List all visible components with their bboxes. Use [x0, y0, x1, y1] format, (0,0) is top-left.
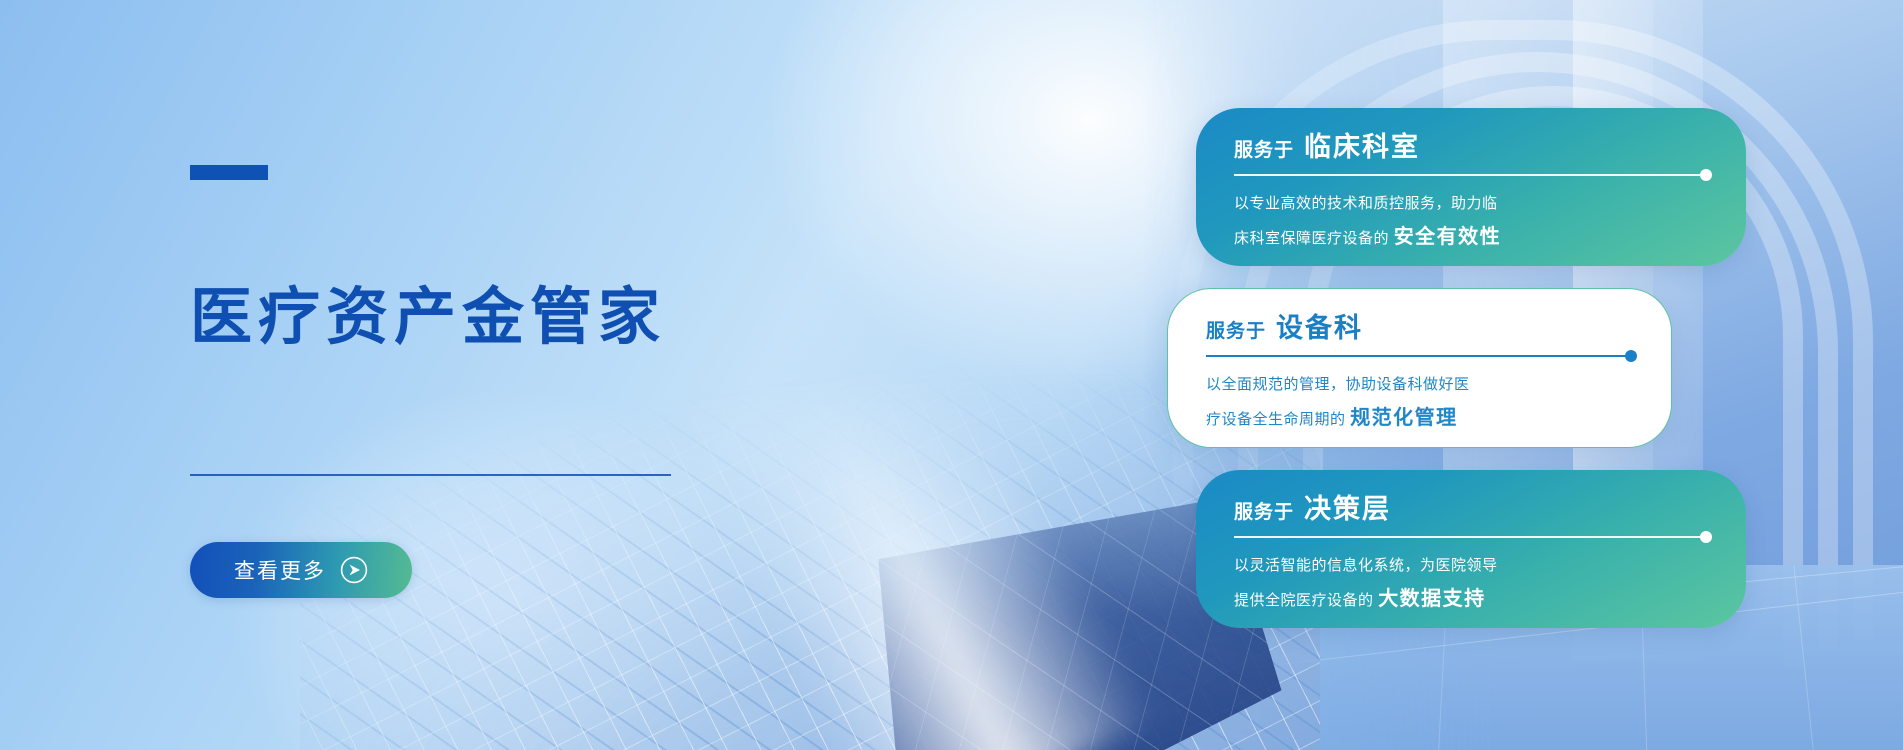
card-title-prefix: 服务于	[1234, 141, 1294, 160]
card-divider-dot-icon	[1700, 169, 1712, 181]
card-desc-line-1: 以灵活智能的信息化系统，为医院领导	[1234, 551, 1712, 580]
card-divider-bar	[1234, 536, 1700, 538]
card-title-target: 决策层	[1304, 496, 1391, 523]
card-divider	[1206, 355, 1637, 357]
card-desc-line-2: 提供全院医疗设备的 大数据支持	[1234, 580, 1712, 619]
card-title-prefix: 服务于	[1234, 503, 1294, 522]
feature-card-decision-makers[interactable]: 服务于 决策层 以灵活智能的信息化系统，为医院领导 提供全院医疗设备的 大数据支…	[1196, 470, 1746, 628]
card-divider-dot-icon	[1700, 531, 1712, 543]
card-title: 服务于 决策层	[1234, 496, 1712, 523]
card-title-target: 临床科室	[1304, 134, 1420, 161]
card-desc-line-2: 疗设备全生命周期的 规范化管理	[1206, 399, 1637, 438]
card-desc-line-2-normal: 疗设备全生命周期的	[1206, 411, 1346, 428]
card-divider-bar	[1234, 174, 1700, 176]
card-desc-highlight: 安全有效性	[1394, 226, 1502, 248]
card-divider	[1234, 174, 1712, 176]
feature-card-clinical[interactable]: 服务于 临床科室 以专业高效的技术和质控服务，助力临 床科室保障医疗设备的 安全…	[1196, 108, 1746, 266]
card-description: 以全面规范的管理，协助设备科做好医 疗设备全生命周期的 规范化管理	[1206, 370, 1637, 438]
card-description: 以灵活智能的信息化系统，为医院领导 提供全院医疗设备的 大数据支持	[1234, 551, 1712, 619]
card-description: 以专业高效的技术和质控服务，助力临 床科室保障医疗设备的 安全有效性	[1234, 189, 1712, 257]
card-divider	[1234, 536, 1712, 538]
card-desc-highlight: 大数据支持	[1378, 588, 1486, 610]
card-title: 服务于 临床科室	[1234, 134, 1712, 161]
card-desc-line-2: 床科室保障医疗设备的 安全有效性	[1234, 218, 1712, 257]
feature-card-list: 服务于 临床科室 以专业高效的技术和质控服务，助力临 床科室保障医疗设备的 安全…	[0, 0, 1903, 750]
card-title-target: 设备科	[1276, 315, 1363, 342]
card-desc-line-1: 以全面规范的管理，协助设备科做好医	[1206, 370, 1637, 399]
card-title: 服务于 设备科	[1206, 315, 1637, 342]
card-desc-line-1: 以专业高效的技术和质控服务，助力临	[1234, 189, 1712, 218]
hero-banner: 医疗资产金管家 查看更多 服务于 临床科室 以专业	[0, 0, 1903, 750]
card-divider-bar	[1206, 355, 1625, 357]
card-divider-dot-icon	[1625, 350, 1637, 362]
card-desc-highlight: 规范化管理	[1350, 407, 1458, 429]
card-title-prefix: 服务于	[1206, 322, 1266, 341]
card-desc-line-2-normal: 床科室保障医疗设备的	[1234, 230, 1389, 247]
feature-card-equipment-dept[interactable]: 服务于 设备科 以全面规范的管理，协助设备科做好医 疗设备全生命周期的 规范化管…	[1167, 288, 1672, 448]
card-desc-line-2-normal: 提供全院医疗设备的	[1234, 592, 1374, 609]
